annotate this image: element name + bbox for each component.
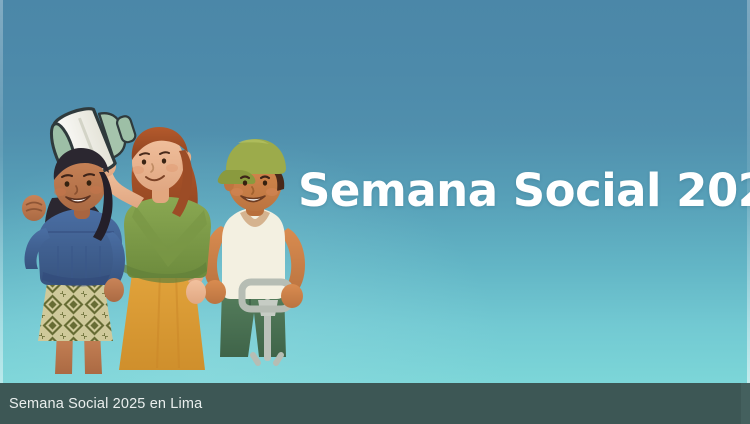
caption-right-edge <box>741 383 750 424</box>
banner-root: Semana Social 2025 Semana Social 2025 en… <box>0 0 750 424</box>
illustration-three-people <box>0 0 340 383</box>
hero-banner: Semana Social 2025 <box>0 0 750 383</box>
banner-title: Semana Social 2025 <box>298 166 750 216</box>
figure-man-with-crutch <box>204 139 305 363</box>
caption-bar: Semana Social 2025 en Lima <box>0 383 750 424</box>
hero-left-edge <box>0 0 3 383</box>
illustration-svg <box>0 0 340 383</box>
caption-text: Semana Social 2025 en Lima <box>0 396 202 412</box>
